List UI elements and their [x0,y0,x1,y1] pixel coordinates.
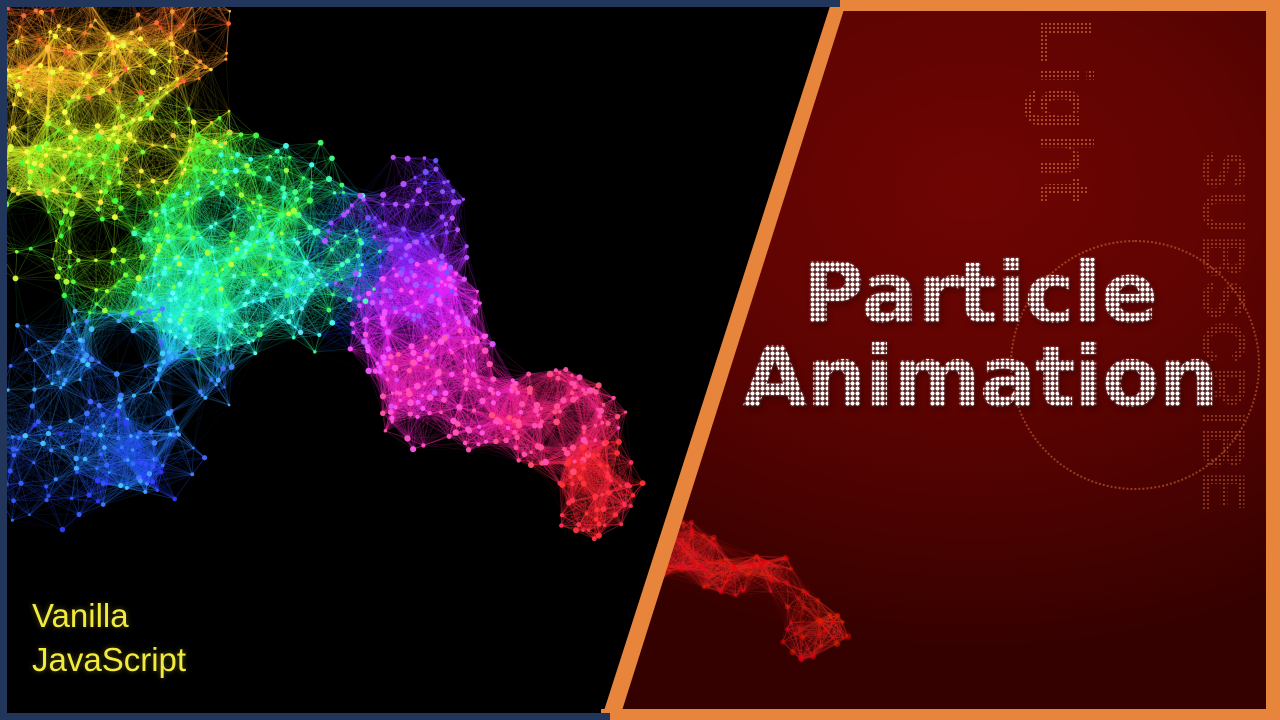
title-line-particle: Particle [690,252,1270,334]
caption-line-vanilla: Vanilla [32,594,186,638]
presentation-slide: Light SUBSCRIBE Particle Animation Vanil… [0,0,1280,720]
slide-caption: Vanilla JavaScript [32,594,186,682]
background-word-light: Light [1023,18,1108,204]
slide-title: Particle Animation [690,252,1270,419]
caption-line-javascript: JavaScript [32,638,186,682]
title-line-animation: Animation [690,336,1270,418]
